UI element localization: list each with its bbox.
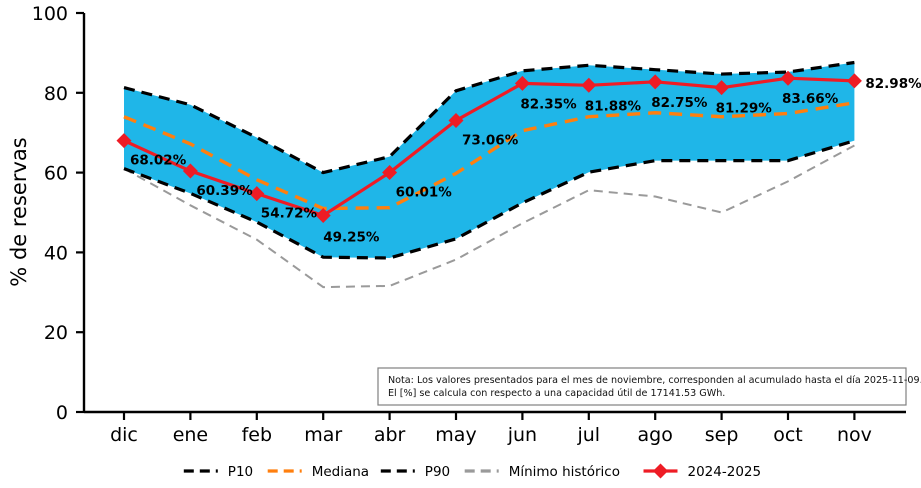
note-line-1: Nota: Los valores presentados para el me…	[388, 374, 921, 386]
reservoir-chart-figure: 68.02%60.39%54.72%49.25%60.01%73.06%82.3…	[0, 0, 921, 488]
x-tick-label: may	[435, 424, 476, 446]
legend-item-label: 2024-2025	[688, 464, 762, 480]
legend-item-label: P10	[228, 464, 253, 480]
data-point-label: 60.39%	[196, 183, 253, 199]
x-tick-label: feb	[242, 424, 272, 446]
y-tick-label: 0	[56, 402, 68, 424]
data-point-label: 83.66%	[782, 91, 839, 107]
y-tick-label: 100	[32, 3, 68, 25]
x-tick-label: ago	[638, 424, 673, 446]
y-axis-title: % de reservas	[7, 137, 31, 286]
x-tick-label: oct	[773, 424, 803, 446]
x-tick-label: sep	[705, 424, 739, 446]
note-box-border	[378, 368, 906, 405]
legend-item-label: Mínimo histórico	[509, 464, 620, 480]
x-tick-label: jul	[576, 424, 600, 446]
data-point-label: 73.06%	[462, 132, 519, 148]
legend-item-label: Mediana	[312, 464, 369, 480]
x-tick-label: abr	[374, 424, 406, 446]
data-point-label: 82.98%	[865, 76, 921, 92]
legend-item-label: P90	[425, 464, 450, 480]
data-point-label: 81.88%	[585, 98, 642, 114]
data-point-label: 68.02%	[130, 153, 187, 169]
x-tick-label: mar	[304, 424, 342, 446]
legend-item[interactable]: 2024-2025	[644, 464, 762, 481]
y-tick-label: 40	[44, 242, 68, 264]
chart-canvas: 68.02%60.39%54.72%49.25%60.01%73.06%82.3…	[0, 0, 921, 488]
y-tick-label: 60	[44, 163, 68, 185]
x-tick-label: dic	[110, 424, 138, 446]
x-tick-label: jun	[507, 424, 537, 446]
note-line-2: El [%] se calcula con respecto a una cap…	[388, 387, 725, 399]
data-point-label: 82.75%	[651, 95, 708, 111]
data-point-label: 81.29%	[716, 101, 773, 117]
x-tick-label: ene	[173, 424, 208, 446]
data-point-label: 54.72%	[261, 206, 318, 222]
data-point-label: 49.25%	[323, 229, 380, 245]
data-point-label: 60.01%	[396, 185, 453, 201]
data-point-label: 82.35%	[520, 96, 577, 112]
y-tick-label: 20	[44, 322, 68, 344]
x-tick-label: nov	[837, 424, 872, 446]
y-tick-label: 80	[44, 83, 68, 105]
note-box: Nota: Los valores presentados para el me…	[378, 368, 921, 405]
